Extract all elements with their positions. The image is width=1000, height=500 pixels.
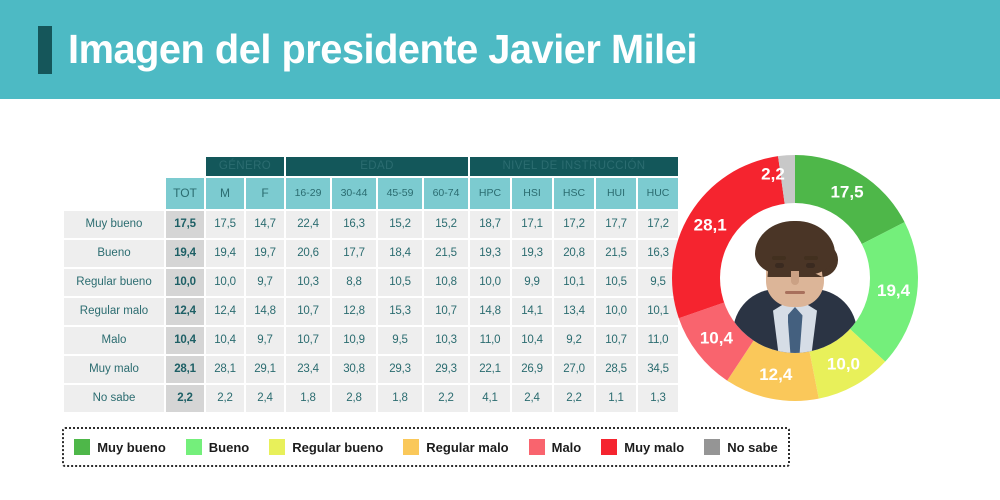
cell-16-29: 22,4 <box>286 211 330 238</box>
cell-tot: 10,4 <box>166 327 204 354</box>
legend-swatch-icon <box>186 439 202 455</box>
cell-30-44: 2,8 <box>332 385 376 412</box>
cell-60-74: 10,8 <box>424 269 468 296</box>
legend-item-bueno: Bueno <box>186 439 249 455</box>
cell-30-44: 10,9 <box>332 327 376 354</box>
cell-hpc: 14,8 <box>470 298 510 325</box>
legend-label: No sabe <box>727 440 778 455</box>
legend-item-muy-bueno: Muy bueno <box>74 439 166 455</box>
legend-label: Regular bueno <box>292 440 383 455</box>
column-header-hpc: HPC <box>470 178 510 209</box>
header-banner: Imagen del presidente Javier Milei <box>0 0 1000 99</box>
cell-f: 29,1 <box>246 356 284 383</box>
legend-swatch-icon <box>601 439 617 455</box>
legend-item-malo: Malo <box>529 439 582 455</box>
portrait-eye-left <box>775 263 784 268</box>
infographic-page: Imagen del presidente Javier Milei GÉNER… <box>0 0 1000 500</box>
legend-label: Muy bueno <box>97 440 166 455</box>
cell-30-44: 12,8 <box>332 298 376 325</box>
cell-60-74: 2,2 <box>424 385 468 412</box>
cell-hsc: 17,2 <box>554 211 594 238</box>
cell-m: 17,5 <box>206 211 244 238</box>
donut-chart: 17,519,410,012,410,428,12,2 <box>670 153 920 403</box>
cell-hsi: 2,4 <box>512 385 552 412</box>
column-header-hsc: HSC <box>554 178 594 209</box>
banner-accent-bar <box>38 26 52 74</box>
cell-hui: 21,5 <box>596 240 636 267</box>
cell-hui: 1,1 <box>596 385 636 412</box>
cell-f: 19,7 <box>246 240 284 267</box>
group-header-edad: EDAD <box>286 157 468 176</box>
cell-m: 10,0 <box>206 269 244 296</box>
cell-m: 28,1 <box>206 356 244 383</box>
column-header-blank <box>64 178 164 209</box>
cell-16-29: 10,3 <box>286 269 330 296</box>
row-label: Muy malo <box>64 356 164 383</box>
table-row: Bueno 19,4 19,4 19,7 20,6 17,7 18,4 21,5… <box>64 240 678 267</box>
cell-45-59: 1,8 <box>378 385 422 412</box>
cell-hsi: 19,3 <box>512 240 552 267</box>
cell-60-74: 29,3 <box>424 356 468 383</box>
data-table-container: GÉNERO EDAD NIVEL DE INSTRUCCIÓN TOT M F… <box>62 155 680 414</box>
cell-hpc: 10,0 <box>470 269 510 296</box>
cell-hui: 17,7 <box>596 211 636 238</box>
legend-item-regular-malo: Regular malo <box>403 439 508 455</box>
table-row: No sabe 2,2 2,2 2,4 1,8 2,8 1,8 2,2 4,1 … <box>64 385 678 412</box>
legend-swatch-icon <box>269 439 285 455</box>
donut-slice-label: 10,0 <box>827 354 860 373</box>
table-column-header-row: TOT M F 16-29 30-44 45-59 60-74 HPC HSI … <box>64 178 678 209</box>
cell-60-74: 10,7 <box>424 298 468 325</box>
cell-tot: 12,4 <box>166 298 204 325</box>
legend-label: Bueno <box>209 440 249 455</box>
cell-16-29: 10,7 <box>286 298 330 325</box>
legend-item-muy-malo: Muy malo <box>601 439 684 455</box>
cell-m: 2,2 <box>206 385 244 412</box>
cell-hpc: 22,1 <box>470 356 510 383</box>
legend-item-regular-bueno: Regular bueno <box>269 439 383 455</box>
portrait-nose <box>791 271 799 285</box>
column-header-hui: HUI <box>596 178 636 209</box>
legend-swatch-icon <box>704 439 720 455</box>
portrait-eye-right <box>806 263 815 268</box>
legend-swatch-icon <box>403 439 419 455</box>
poll-results-table: GÉNERO EDAD NIVEL DE INSTRUCCIÓN TOT M F… <box>62 155 680 414</box>
row-label: Bueno <box>64 240 164 267</box>
cell-hui: 28,5 <box>596 356 636 383</box>
cell-60-74: 15,2 <box>424 211 468 238</box>
cell-hsc: 13,4 <box>554 298 594 325</box>
cell-16-29: 20,6 <box>286 240 330 267</box>
cell-30-44: 17,7 <box>332 240 376 267</box>
page-title: Imagen del presidente Javier Milei <box>68 26 697 73</box>
center-portrait <box>720 203 870 353</box>
column-header-tot: TOT <box>166 178 204 209</box>
cell-tot: 17,5 <box>166 211 204 238</box>
cell-16-29: 23,4 <box>286 356 330 383</box>
row-label: Malo <box>64 327 164 354</box>
cell-hsc: 20,8 <box>554 240 594 267</box>
donut-slice-label: 28,1 <box>694 215 727 234</box>
cell-hsc: 9,2 <box>554 327 594 354</box>
table-row: Regular bueno 10,0 10,0 9,7 10,3 8,8 10,… <box>64 269 678 296</box>
cell-m: 19,4 <box>206 240 244 267</box>
cell-16-29: 1,8 <box>286 385 330 412</box>
cell-30-44: 8,8 <box>332 269 376 296</box>
chart-legend: Muy bueno Bueno Regular bueno Regular ma… <box>62 427 790 467</box>
column-header-60-74: 60-74 <box>424 178 468 209</box>
row-label: No sabe <box>64 385 164 412</box>
column-header-f: F <box>246 178 284 209</box>
cell-hsc: 2,2 <box>554 385 594 412</box>
table-row: Malo 10,4 10,4 9,7 10,7 10,9 9,5 10,3 11… <box>64 327 678 354</box>
cell-45-59: 9,5 <box>378 327 422 354</box>
cell-60-74: 10,3 <box>424 327 468 354</box>
cell-tot: 10,0 <box>166 269 204 296</box>
cell-f: 9,7 <box>246 327 284 354</box>
group-header-nivel-instruccion: NIVEL DE INSTRUCCIÓN <box>470 157 678 176</box>
cell-hpc: 19,3 <box>470 240 510 267</box>
cell-m: 10,4 <box>206 327 244 354</box>
cell-30-44: 30,8 <box>332 356 376 383</box>
cell-hsi: 14,1 <box>512 298 552 325</box>
column-header-m: M <box>206 178 244 209</box>
cell-f: 2,4 <box>246 385 284 412</box>
cell-45-59: 10,5 <box>378 269 422 296</box>
cell-hsc: 27,0 <box>554 356 594 383</box>
cell-hpc: 4,1 <box>470 385 510 412</box>
cell-hui: 10,5 <box>596 269 636 296</box>
cell-hsi: 10,4 <box>512 327 552 354</box>
cell-60-74: 21,5 <box>424 240 468 267</box>
legend-label: Muy malo <box>624 440 684 455</box>
portrait-mouth <box>785 291 805 294</box>
cell-f: 14,8 <box>246 298 284 325</box>
table-row: Regular malo 12,4 12,4 14,8 10,7 12,8 15… <box>64 298 678 325</box>
cell-f: 9,7 <box>246 269 284 296</box>
portrait-hair <box>755 221 835 275</box>
row-label: Regular malo <box>64 298 164 325</box>
legend-swatch-icon <box>529 439 545 455</box>
cell-tot: 2,2 <box>166 385 204 412</box>
cell-45-59: 15,3 <box>378 298 422 325</box>
cell-45-59: 18,4 <box>378 240 422 267</box>
table-body: Muy bueno 17,5 17,5 14,7 22,4 16,3 15,2 … <box>64 211 678 412</box>
column-header-16-29: 16-29 <box>286 178 330 209</box>
cell-45-59: 15,2 <box>378 211 422 238</box>
table-row: Muy malo 28,1 28,1 29,1 23,4 30,8 29,3 2… <box>64 356 678 383</box>
column-header-30-44: 30-44 <box>332 178 376 209</box>
group-header-genero: GÉNERO <box>206 157 284 176</box>
legend-label: Regular malo <box>426 440 508 455</box>
row-label: Regular bueno <box>64 269 164 296</box>
column-header-hsi: HSI <box>512 178 552 209</box>
portrait-eyebrow-right <box>804 256 818 260</box>
cell-45-59: 29,3 <box>378 356 422 383</box>
cell-tot: 19,4 <box>166 240 204 267</box>
donut-slice-label: 2,2 <box>761 164 785 183</box>
table-head: GÉNERO EDAD NIVEL DE INSTRUCCIÓN TOT M F… <box>64 157 678 209</box>
cell-hui: 10,7 <box>596 327 636 354</box>
cell-m: 12,4 <box>206 298 244 325</box>
cell-hpc: 18,7 <box>470 211 510 238</box>
cell-hui: 10,0 <box>596 298 636 325</box>
cell-30-44: 16,3 <box>332 211 376 238</box>
legend-label: Malo <box>552 440 582 455</box>
donut-slice-label: 12,4 <box>759 365 793 384</box>
cell-f: 14,7 <box>246 211 284 238</box>
donut-slice-label: 19,4 <box>877 281 911 300</box>
table-group-header-row: GÉNERO EDAD NIVEL DE INSTRUCCIÓN <box>64 157 678 176</box>
column-header-45-59: 45-59 <box>378 178 422 209</box>
table-row: Muy bueno 17,5 17,5 14,7 22,4 16,3 15,2 … <box>64 211 678 238</box>
cell-hsi: 26,9 <box>512 356 552 383</box>
legend-swatch-icon <box>74 439 90 455</box>
cell-16-29: 10,7 <box>286 327 330 354</box>
donut-slice-label: 17,5 <box>830 183 863 202</box>
legend-item-no-sabe: No sabe <box>704 439 778 455</box>
cell-hsi: 17,1 <box>512 211 552 238</box>
portrait-eyebrow-left <box>772 256 786 260</box>
cell-hsi: 9,9 <box>512 269 552 296</box>
cell-hpc: 11,0 <box>470 327 510 354</box>
group-header-blank <box>64 157 204 176</box>
row-label: Muy bueno <box>64 211 164 238</box>
donut-slice-label: 10,4 <box>700 328 734 347</box>
cell-tot: 28,1 <box>166 356 204 383</box>
cell-hsc: 10,1 <box>554 269 594 296</box>
